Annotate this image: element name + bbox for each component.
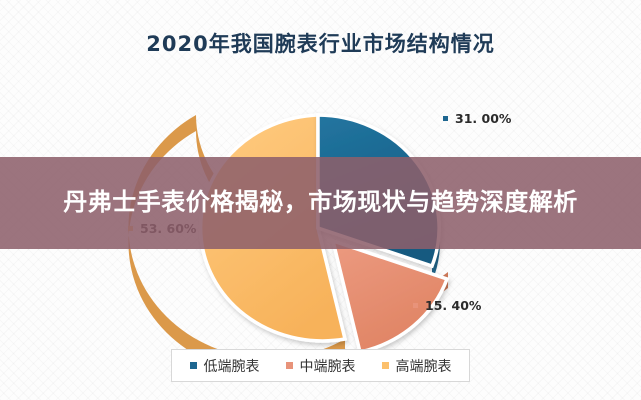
headline-overlay-text: 丹弗士手表价格揭秘，市场现状与趋势深度解析 [0,157,641,249]
legend-swatch-high-icon [382,362,389,369]
legend-item-mid-end: 中端腕表 [286,356,356,376]
legend-item-high-end: 高端腕表 [382,356,452,376]
data-label-low-value: 31. 00% [455,111,511,126]
chart-legend: 低端腕表 中端腕表 高端腕表 [171,349,470,382]
legend-swatch-low-icon [190,362,197,369]
legend-swatch-mid-icon [286,362,293,369]
data-label-swatch-low-icon [443,116,448,121]
data-label-mid-end: 15. 40% [413,298,481,313]
legend-label-low-end: 低端腕表 [204,356,260,376]
data-label-mid-value: 15. 40% [425,298,481,313]
legend-item-low-end: 低端腕表 [190,356,260,376]
data-label-swatch-mid-icon [413,303,418,308]
data-label-low-end: 31. 00% [443,111,511,126]
chart-title: 2020年我国腕表行业市场结构情况 [0,28,641,58]
legend-label-high-end: 高端腕表 [396,356,452,376]
legend-label-mid-end: 中端腕表 [300,356,356,376]
screenshot-root: 2020年我国腕表行业市场结构情况 [0,0,641,400]
